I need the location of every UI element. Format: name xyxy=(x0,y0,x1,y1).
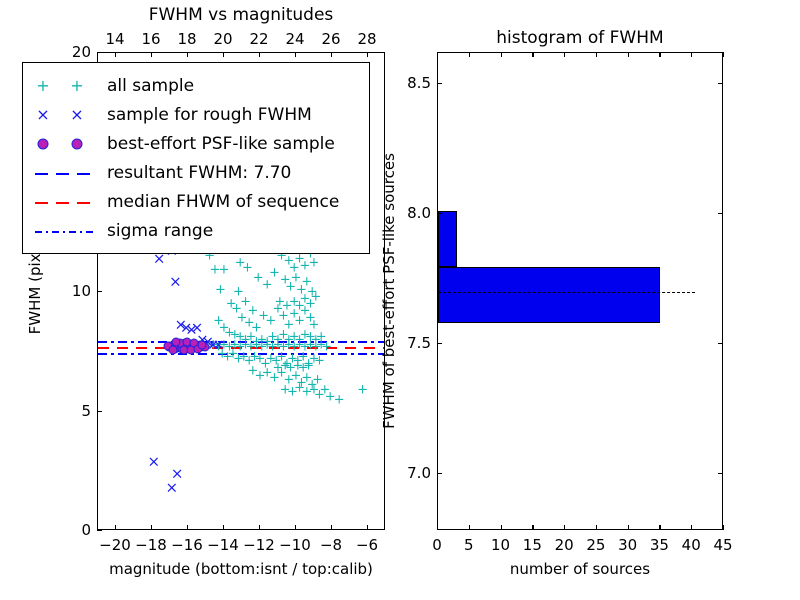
histogram-xticklabel: 10 xyxy=(491,536,510,554)
histogram-top-xtick xyxy=(691,52,692,57)
histogram-ytick xyxy=(437,83,442,84)
legend-marker-plus-icon: ++ xyxy=(29,75,107,97)
legend-item-1: ××sample for rough FWHM xyxy=(29,100,363,129)
histogram-xticklabel: 15 xyxy=(523,536,542,554)
scatter-xticklabel: −16 xyxy=(171,536,203,554)
histogram-xticklabel: 0 xyxy=(432,536,442,554)
legend-cross-icon: × xyxy=(36,107,49,123)
scatter-xtick xyxy=(367,525,368,530)
histogram-right-ytick xyxy=(718,83,723,84)
scatter-xtick xyxy=(115,525,116,530)
histogram-xticklabel: 45 xyxy=(713,536,732,554)
scatter-xticklabel: −8 xyxy=(320,536,342,554)
scatter-top-xticklabel: 26 xyxy=(321,30,340,48)
legend-circle-icon xyxy=(38,138,49,149)
legend-item-5: sigma range xyxy=(29,216,363,245)
histogram-right-ytick xyxy=(718,213,723,214)
histogram-xticklabel: 40 xyxy=(682,536,701,554)
histogram-xtick xyxy=(628,525,629,530)
histogram-top-xtick xyxy=(469,52,470,57)
histogram-ytick xyxy=(437,343,442,344)
histogram-right-ytick xyxy=(718,473,723,474)
scatter-xtick xyxy=(331,525,332,530)
scatter-point-all: + xyxy=(269,266,280,279)
histogram-xticklabel: 35 xyxy=(650,536,669,554)
scatter-top-xticklabel: 20 xyxy=(213,30,232,48)
scatter-top-xtick xyxy=(295,52,296,57)
scatter-top-xticklabel: 14 xyxy=(105,30,124,48)
scatter-xticklabel: −20 xyxy=(99,536,131,554)
scatter-point-all: + xyxy=(314,355,325,368)
histogram-xtick xyxy=(469,525,470,530)
scatter-top-xticklabel: 22 xyxy=(249,30,268,48)
scatter-xticklabel: −14 xyxy=(207,536,239,554)
scatter-xtick xyxy=(259,525,260,530)
scatter-yticklabel: 5 xyxy=(49,402,91,420)
histogram-yticklabel: 7.0 xyxy=(392,464,431,482)
scatter-point-all: + xyxy=(321,340,332,353)
scatter-point-rough: × xyxy=(212,337,225,352)
legend-item-4: median FHWM of sequence xyxy=(29,187,363,216)
scatter-xticklabel: −6 xyxy=(356,536,378,554)
histogram-bar xyxy=(438,267,660,323)
legend-marker-dashdot-line-icon xyxy=(29,220,107,242)
scatter-top-xticklabel: 18 xyxy=(177,30,196,48)
scatter-point-rough: × xyxy=(148,454,161,469)
scatter-point-psf xyxy=(172,338,181,347)
scatter-point-rough: × xyxy=(166,480,179,495)
histogram-bar xyxy=(438,211,457,267)
legend-plus-icon: + xyxy=(36,78,49,94)
legend-marker-circle-icon xyxy=(29,133,107,155)
histogram-title: histogram of FWHM xyxy=(437,28,723,48)
histogram-right-ytick xyxy=(718,343,723,344)
histogram-ytick xyxy=(437,213,442,214)
histogram-xticklabel: 5 xyxy=(464,536,474,554)
histogram-axes xyxy=(437,52,723,530)
legend-item-label: median FHWM of sequence xyxy=(107,192,339,212)
scatter-point-all: + xyxy=(309,257,320,270)
histogram-top-xtick xyxy=(532,52,533,57)
legend-item-label: sigma range xyxy=(107,221,213,241)
scatter-top-xtick xyxy=(331,52,332,57)
scatter-xticklabel: −10 xyxy=(279,536,311,554)
scatter-xticklabel: −18 xyxy=(135,536,167,554)
scatter-x-axis-label: magnitude (bottom:isnt / top:calib) xyxy=(97,560,385,578)
histogram-x-axis-label: number of sources xyxy=(437,560,723,578)
histogram-xtick xyxy=(564,525,565,530)
histogram-top-xtick xyxy=(564,52,565,57)
legend-dashed-line-icon xyxy=(35,202,93,204)
histogram-xtick xyxy=(501,525,502,530)
scatter-yticklabel: 20 xyxy=(49,43,91,61)
scatter-point-all: + xyxy=(231,302,242,315)
scatter-point-all: + xyxy=(334,393,345,406)
scatter-top-xtick xyxy=(187,52,188,57)
scatter-ytick xyxy=(97,530,102,531)
scatter-top-xticklabel: 28 xyxy=(357,30,376,48)
scatter-top-xticklabel: 24 xyxy=(285,30,304,48)
scatter-top-xtick xyxy=(223,52,224,57)
scatter-point-all: + xyxy=(215,283,226,296)
histogram-xtick xyxy=(691,525,692,530)
scatter-ytick xyxy=(97,291,102,292)
scatter-yticklabel: 10 xyxy=(49,282,91,300)
scatter-top-xtick xyxy=(259,52,260,57)
scatter-xtick xyxy=(223,525,224,530)
scatter-point-all: + xyxy=(274,295,285,308)
histogram-xticklabel: 25 xyxy=(586,536,605,554)
histogram-xtick xyxy=(437,525,438,530)
scatter-point-rough: × xyxy=(169,275,182,290)
legend-plus-icon: + xyxy=(70,78,83,94)
scatter-y-axis-label: FWHM (pix) xyxy=(26,248,44,335)
legend-marker-dashed-line-icon xyxy=(29,191,107,213)
scatter-point-all: + xyxy=(242,262,253,275)
histogram-xtick xyxy=(723,525,724,530)
scatter-xticklabel: −12 xyxy=(243,536,275,554)
scatter-yticklabel: 0 xyxy=(49,521,91,539)
legend-item-label: best-effort PSF-like sample xyxy=(107,134,335,154)
figure-canvas: FWHM vs magnitudes +++++++++++++++++++++… xyxy=(0,0,800,600)
scatter-ytick xyxy=(97,411,102,412)
legend-item-label: all sample xyxy=(107,76,194,96)
legend-item-2: best-effort PSF-like sample xyxy=(29,129,363,158)
histogram-top-xtick xyxy=(659,52,660,57)
legend-dashed-line-icon xyxy=(35,173,93,175)
scatter-top-xtick xyxy=(151,52,152,57)
scatter-xtick xyxy=(187,525,188,530)
histogram-median-line xyxy=(438,292,695,293)
scatter-top-xticklabel: 16 xyxy=(141,30,160,48)
legend-item-3: resultant FWHM: 7.70 xyxy=(29,158,363,187)
histogram-top-xtick xyxy=(437,52,438,57)
legend-box: ++all sample××sample for rough FWHMbest-… xyxy=(22,62,370,254)
scatter-point-all: + xyxy=(273,362,284,375)
histogram-ytick xyxy=(437,473,442,474)
histogram-data-layer xyxy=(438,53,722,529)
histogram-xtick xyxy=(659,525,660,530)
histogram-xtick xyxy=(596,525,597,530)
histogram-top-xtick xyxy=(723,52,724,57)
scatter-xtick xyxy=(295,525,296,530)
legend-item-label: sample for rough FWHM xyxy=(107,105,312,125)
scatter-point-all: + xyxy=(210,264,221,277)
scatter-ytick xyxy=(97,52,102,53)
scatter-top-xtick xyxy=(367,52,368,57)
legend-item-0: ++all sample xyxy=(29,71,363,100)
legend-cross-icon: × xyxy=(70,107,83,123)
histogram-y-axis-label: FWHM of best-effort PSF-like sources xyxy=(380,153,398,429)
histogram-xticklabel: 30 xyxy=(618,536,637,554)
histogram-xticklabel: 20 xyxy=(555,536,574,554)
histogram-top-xtick xyxy=(501,52,502,57)
legend-marker-dashed-line-icon xyxy=(29,162,107,184)
histogram-top-xtick xyxy=(596,52,597,57)
legend-circle-icon xyxy=(72,138,83,149)
histogram-xtick xyxy=(532,525,533,530)
legend-dashdot-line-icon xyxy=(35,231,93,233)
histogram-yticklabel: 8.5 xyxy=(392,74,431,92)
histogram-top-xtick xyxy=(628,52,629,57)
legend-marker-cross-icon: ×× xyxy=(29,104,107,126)
legend-item-label: resultant FWHM: 7.70 xyxy=(107,163,291,183)
scatter-point-psf xyxy=(198,340,207,349)
scatter-top-xtick xyxy=(115,52,116,57)
scatter-point-all: + xyxy=(357,383,368,396)
scatter-xtick xyxy=(151,525,152,530)
scatter-plot-title: FWHM vs magnitudes xyxy=(97,5,385,25)
